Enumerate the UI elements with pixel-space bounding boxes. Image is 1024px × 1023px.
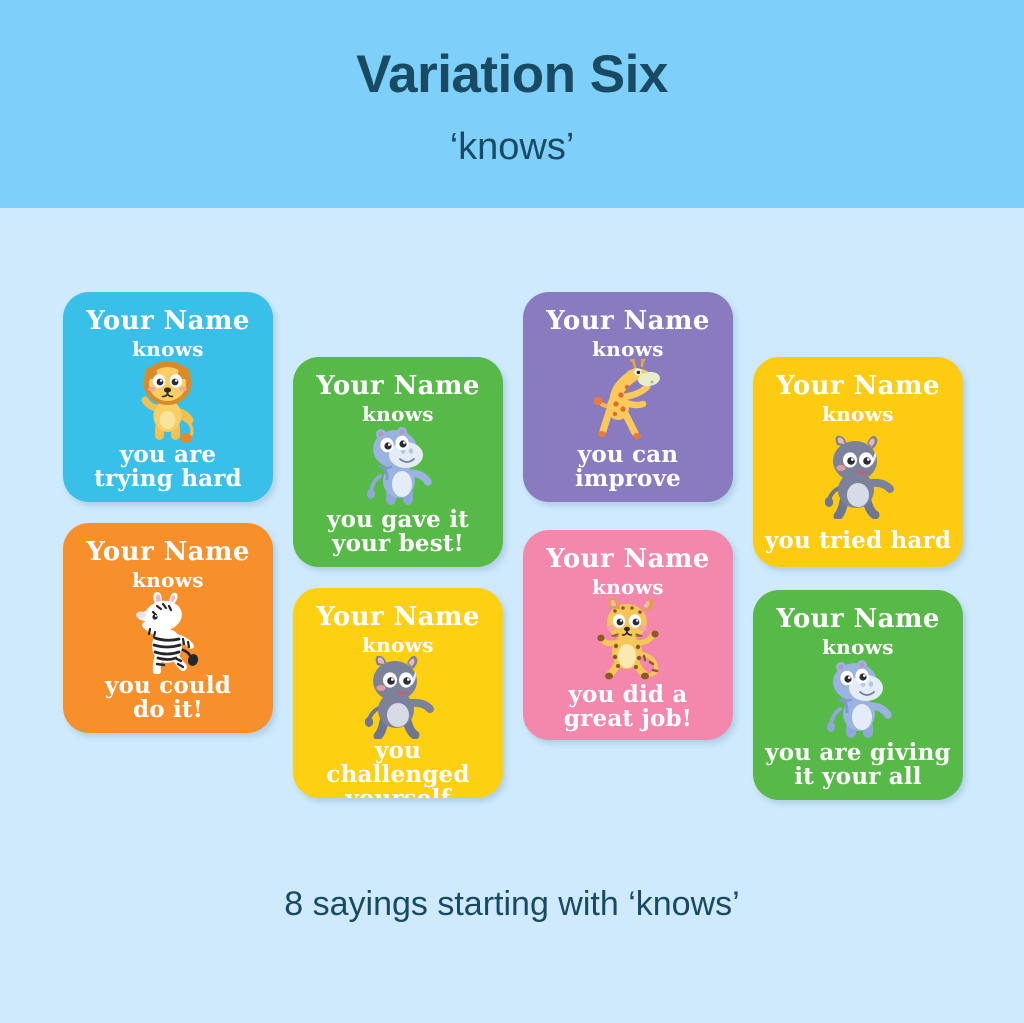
- sticker-name-line: Your Name: [63, 539, 273, 565]
- sticker-saying-line: great job!: [531, 707, 725, 731]
- sticker-card[interactable]: Your Nameknows you coulddo it!: [63, 523, 273, 733]
- sticker-saying-line: do it!: [71, 698, 265, 722]
- sticker-knows-line: knows: [63, 339, 273, 359]
- hippo-illustration-icon: [293, 424, 503, 508]
- sticker-saying-line: you challenged: [301, 739, 495, 787]
- sticker-saying-line: you tried hard: [761, 529, 955, 553]
- sticker-knows-line: knows: [523, 577, 733, 597]
- sticker-knows-line: knows: [63, 570, 273, 590]
- page-title: Variation Six: [0, 44, 1024, 105]
- sticker-name-line: Your Name: [293, 604, 503, 630]
- zebra-illustration-icon: [63, 590, 273, 674]
- sticker-saying: you tried hard: [753, 529, 963, 567]
- sticker-name-line: Your Name: [753, 373, 963, 399]
- sticker-card[interactable]: Your Nameknows you canimprove: [523, 292, 733, 502]
- sticker-card[interactable]: Your Nameknows you are givingit your all: [753, 590, 963, 800]
- sticker-knows-line: knows: [753, 637, 963, 657]
- sticker-saying: you canimprove: [523, 443, 733, 502]
- sticker-card[interactable]: Your Nameknows you challengedyourself: [293, 588, 503, 798]
- sticker-saying: you aretrying hard: [63, 443, 273, 502]
- sticker-saying: you coulddo it!: [63, 674, 273, 733]
- sticker-saying-line: your best!: [301, 532, 495, 556]
- sticker-card[interactable]: Your Nameknows you tried hard: [753, 357, 963, 567]
- sticker-saying-line: you could: [71, 674, 265, 698]
- lion-illustration-icon: [63, 359, 273, 443]
- sticker-saying-line: improve: [531, 467, 725, 491]
- sticker-saying: you gave ityour best!: [293, 508, 503, 567]
- sticker-knows-line: knows: [753, 404, 963, 424]
- sticker-knows-line: knows: [293, 635, 503, 655]
- rhino-illustration-icon: [293, 655, 503, 739]
- sticker-saying-line: you did a: [531, 683, 725, 707]
- sticker-saying-line: it your all: [761, 765, 955, 789]
- sticker-saying: you are givingit your all: [753, 741, 963, 800]
- sticker-card[interactable]: Your Nameknows you aretrying hard: [63, 292, 273, 502]
- page-subtitle: ‘knows’: [0, 126, 1024, 169]
- sticker-name-line: Your Name: [753, 606, 963, 632]
- sticker-saying-line: trying hard: [71, 467, 265, 491]
- hippo-illustration-icon: [753, 657, 963, 741]
- sticker-knows-line: knows: [523, 339, 733, 359]
- leopard-illustration-icon: [523, 597, 733, 683]
- sticker-saying: you challengedyourself: [293, 739, 503, 798]
- giraffe-illustration-icon: [523, 359, 733, 443]
- sticker-saying-line: yourself: [301, 787, 495, 798]
- sticker-card[interactable]: Your Nameknows you gave ityour best!: [293, 357, 503, 567]
- sticker-name-line: Your Name: [63, 308, 273, 334]
- sticker-name-line: Your Name: [523, 308, 733, 334]
- sticker-card[interactable]: Your Nameknows: [523, 530, 733, 740]
- sticker-saying: you did agreat job!: [523, 683, 733, 740]
- sticker-saying-line: you can: [531, 443, 725, 467]
- sticker-knows-line: knows: [293, 404, 503, 424]
- sticker-saying-line: you are: [71, 443, 265, 467]
- sticker-saying-line: you gave it: [301, 508, 495, 532]
- sticker-name-line: Your Name: [293, 373, 503, 399]
- footer-caption: 8 sayings starting with ‘knows’: [0, 885, 1024, 924]
- sticker-saying-line: you are giving: [761, 741, 955, 765]
- sticker-name-line: Your Name: [523, 546, 733, 572]
- rhino-illustration-icon: [753, 424, 963, 529]
